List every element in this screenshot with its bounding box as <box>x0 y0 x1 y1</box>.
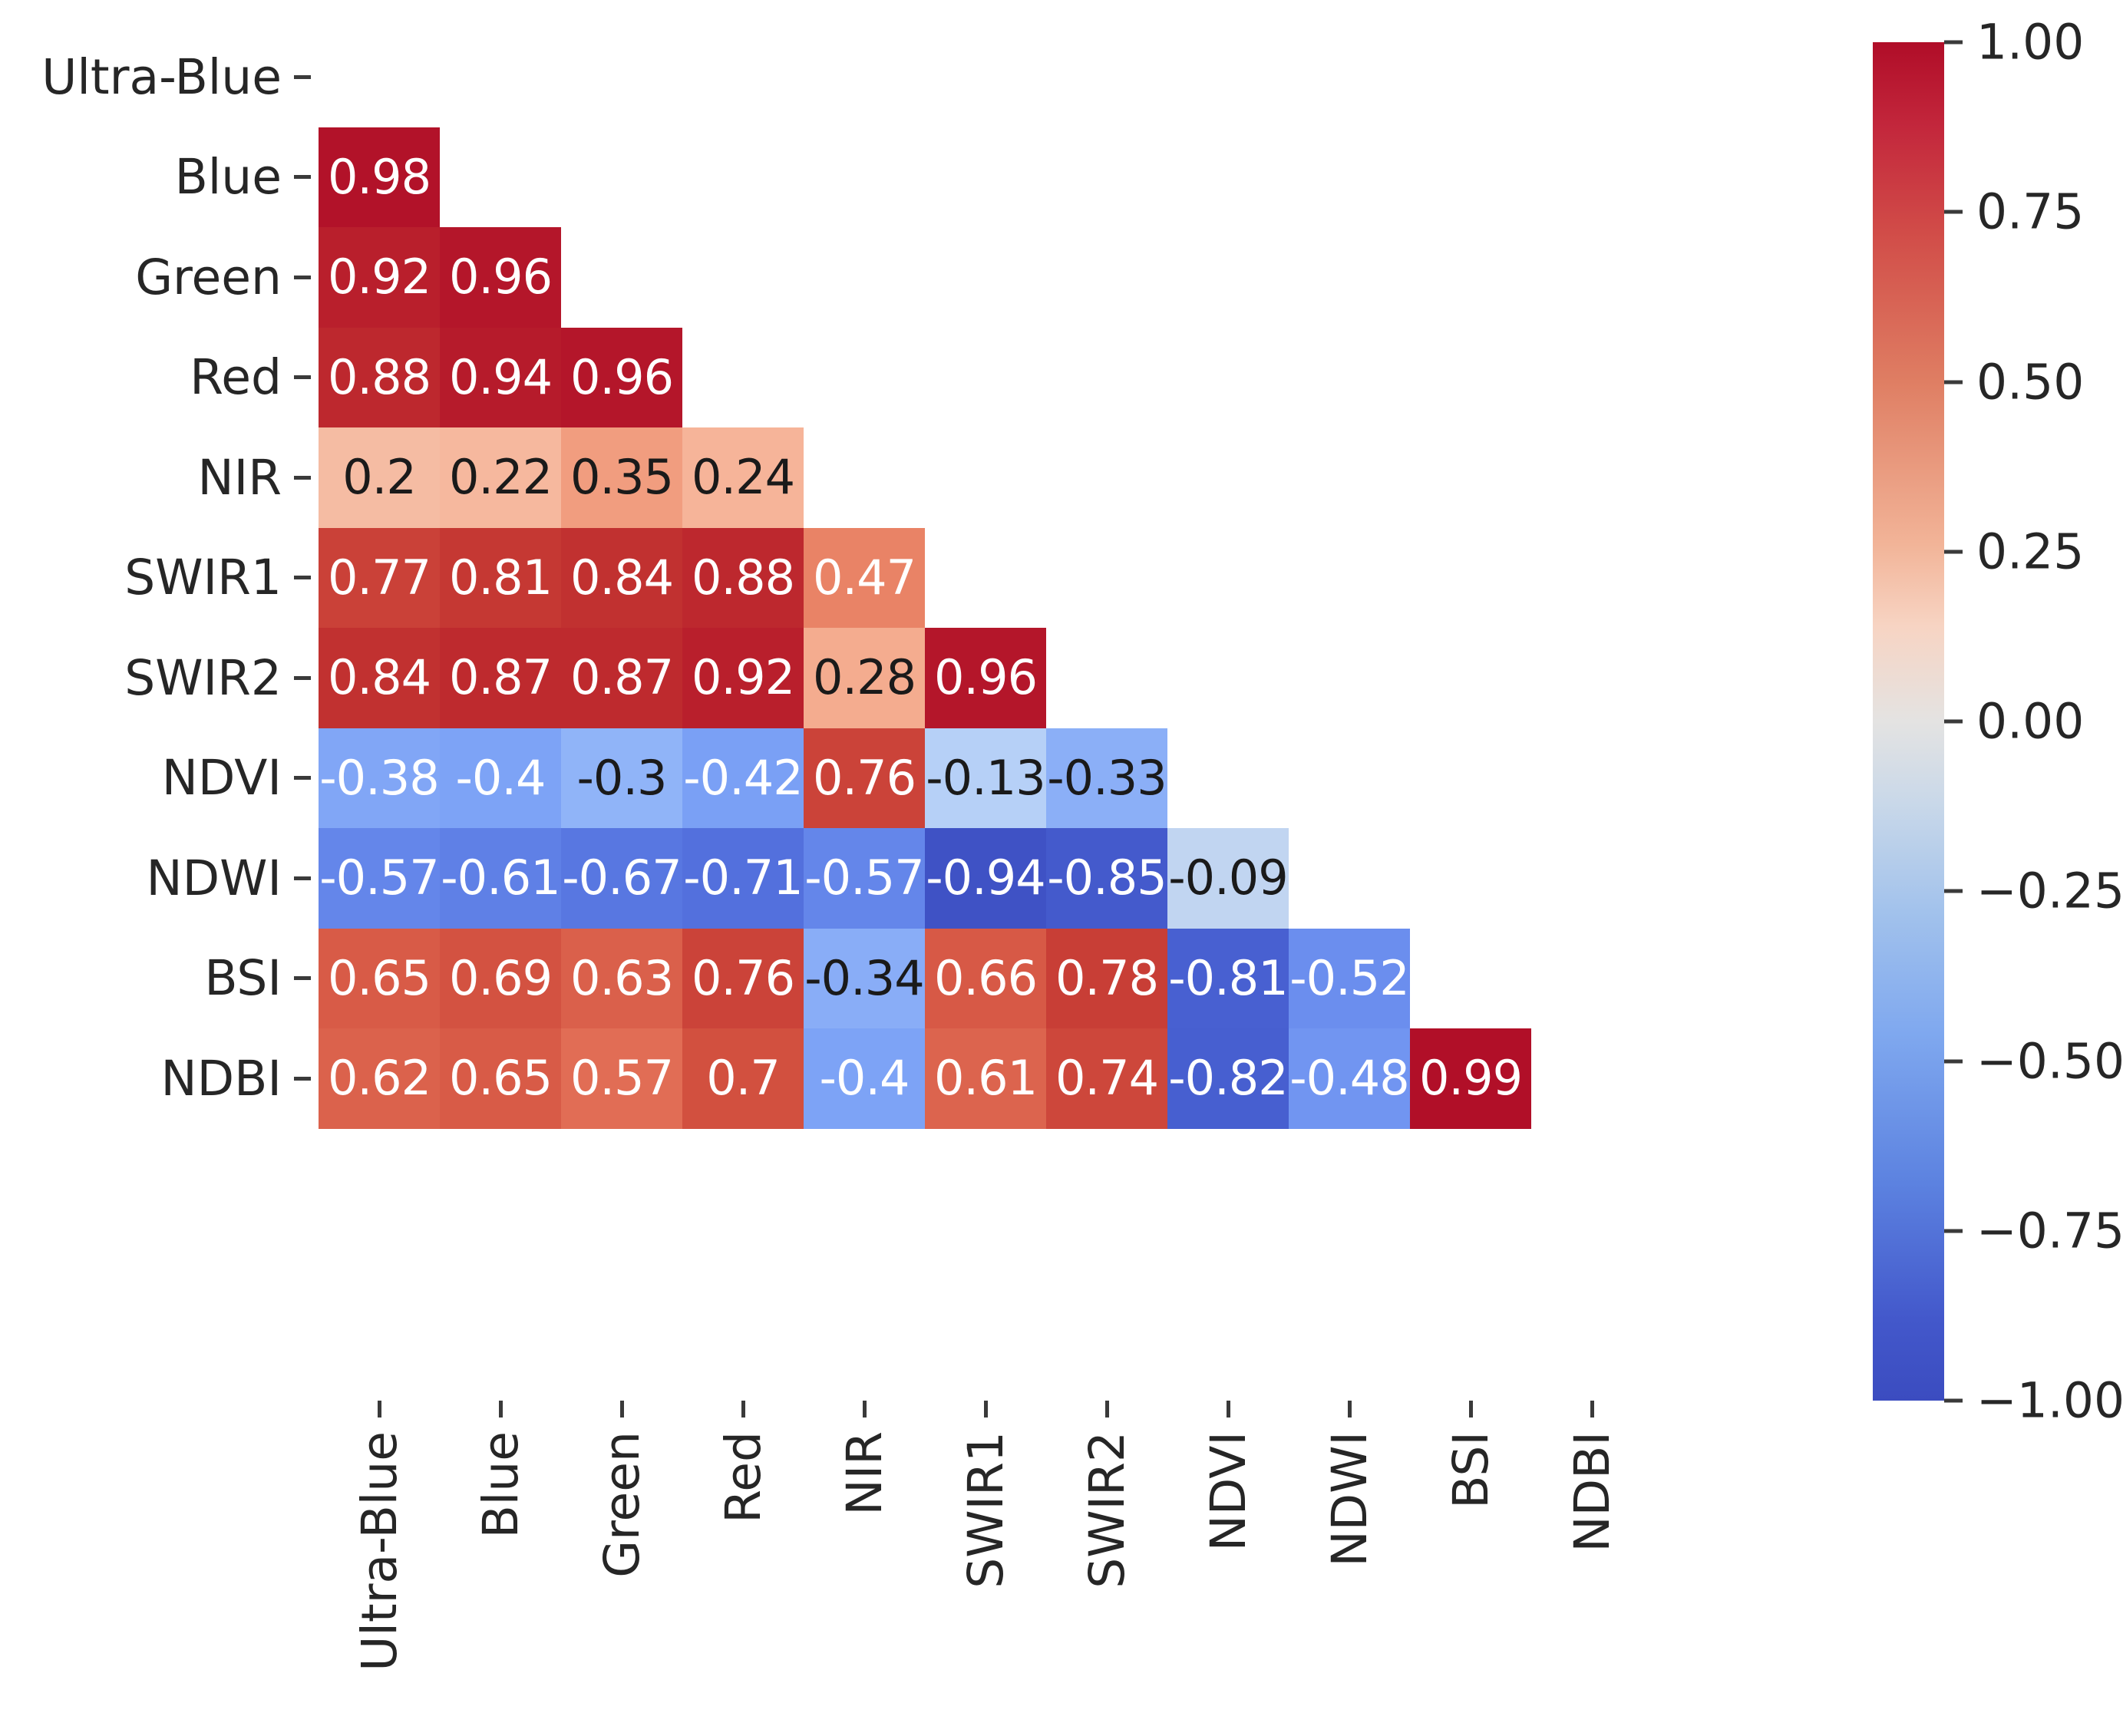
heatmap-cell <box>1531 328 1653 428</box>
heatmap-cell <box>804 427 925 528</box>
heatmap-cell <box>561 27 682 127</box>
heatmap-cell[interactable]: 0.87 <box>561 628 682 728</box>
heatmap-cell <box>1410 227 1531 328</box>
y-axis-tick: Ultra-Blue <box>0 27 319 127</box>
y-axis-tick-mark <box>294 75 311 79</box>
heatmap-cell[interactable]: -0.94 <box>925 828 1046 929</box>
x-axis-tick-label: Blue <box>473 1431 529 1538</box>
x-axis-tick-label: NIR <box>837 1431 893 1515</box>
heatmap-cell <box>1167 328 1289 428</box>
heatmap-cell[interactable]: -0.42 <box>682 728 804 829</box>
y-axis-tick-mark <box>294 375 311 379</box>
x-axis-tick: Green <box>561 1401 682 1578</box>
heatmap-cell <box>1167 728 1289 829</box>
heatmap-cell[interactable]: -0.67 <box>561 828 682 929</box>
heatmap-row: -0.57-0.61-0.67-0.71-0.57-0.94-0.85-0.09 <box>319 828 1654 929</box>
heatmap-row: 0.840.870.870.920.280.96 <box>319 628 1654 728</box>
colorbar-tick: −0.75 <box>1944 1203 2123 1259</box>
colorbar-tick: −0.50 <box>1944 1033 2123 1089</box>
heatmap-cell <box>1410 828 1531 929</box>
colorbar-tick-label: −0.75 <box>1976 1203 2123 1259</box>
colorbar-tick-mark <box>1944 720 1963 724</box>
heatmap-cell[interactable]: 0.96 <box>561 328 682 428</box>
colorbar-tick-label: 0.50 <box>1976 354 2084 410</box>
heatmap-cell <box>1531 27 1653 127</box>
heatmap-cell[interactable]: -0.34 <box>804 929 925 1029</box>
colorbar-tick-label: 0.00 <box>1976 694 2084 750</box>
x-axis-tick-mark <box>741 1401 745 1418</box>
heatmap-cell[interactable]: -0.71 <box>682 828 804 929</box>
heatmap-cell <box>1410 728 1531 829</box>
heatmap-cell[interactable]: 0.35 <box>561 427 682 528</box>
heatmap-cell[interactable]: 0.94 <box>440 328 561 428</box>
x-axis-tick: NDWI <box>1289 1401 1410 1567</box>
heatmap-cell[interactable]: -0.81 <box>1167 929 1289 1029</box>
y-axis-tick-label: Green <box>135 249 282 305</box>
colorbar-tick-mark <box>1944 1399 1963 1403</box>
colorbar-tick-label: 1.00 <box>1976 15 2084 71</box>
heatmap-cell <box>1167 27 1289 127</box>
x-axis-tick-label: Ultra-Blue <box>352 1431 408 1672</box>
heatmap-cell <box>1289 528 1410 629</box>
heatmap-cell <box>682 127 804 228</box>
x-axis-tick-mark <box>499 1401 503 1418</box>
colorbar-tick-label: −0.25 <box>1976 863 2123 919</box>
x-axis-tick-mark <box>620 1401 624 1418</box>
colorbar-tick-label: 0.75 <box>1976 184 2084 240</box>
heatmap-cell[interactable]: 0.92 <box>319 227 440 328</box>
heatmap-cell[interactable]: 0.66 <box>925 929 1046 1029</box>
y-axis-tick-mark <box>294 976 311 980</box>
heatmap-cell <box>1167 528 1289 629</box>
heatmap-cell[interactable]: 0.87 <box>440 628 561 728</box>
x-axis-tick-mark <box>1590 1401 1594 1418</box>
colorbar-tick-mark <box>1944 889 1963 893</box>
heatmap-cell <box>1531 227 1653 328</box>
heatmap-cell <box>1046 328 1167 428</box>
heatmap-cell[interactable]: 0.76 <box>682 929 804 1029</box>
heatmap-cell[interactable]: -0.57 <box>804 828 925 929</box>
x-axis-tick: SWIR2 <box>1046 1401 1167 1589</box>
colorbar-tick: 0.75 <box>1944 184 2084 240</box>
x-axis-tick: Red <box>682 1401 804 1523</box>
heatmap-cell <box>1531 728 1653 829</box>
heatmap-cell <box>804 127 925 228</box>
x-axis-tick-label: NDWI <box>1322 1431 1378 1567</box>
heatmap-cell <box>1410 427 1531 528</box>
heatmap-cell <box>1410 929 1531 1029</box>
y-axis-tick-mark <box>294 276 311 279</box>
colorbar-tick-mark <box>1944 380 1963 384</box>
heatmap-cell[interactable]: -0.3 <box>561 728 682 829</box>
heatmap-cell[interactable]: 0.28 <box>804 628 925 728</box>
heatmap-cell <box>1410 127 1531 228</box>
heatmap-cell <box>1046 127 1167 228</box>
heatmap-cell[interactable]: -0.52 <box>1289 929 1410 1029</box>
heatmap-cell <box>1410 528 1531 629</box>
colorbar-tick-label: −0.50 <box>1976 1033 2123 1089</box>
heatmap-cell <box>804 328 925 428</box>
heatmap-cell <box>925 528 1046 629</box>
heatmap-row: -0.38-0.4-0.3-0.420.76-0.13-0.33 <box>319 728 1654 829</box>
colorbar-tick-mark <box>1944 1229 1963 1233</box>
heatmap-cell[interactable]: 0.77 <box>319 528 440 629</box>
heatmap-row: 0.20.220.350.24 <box>319 427 1654 528</box>
heatmap-cell <box>1289 828 1410 929</box>
heatmap-cell <box>1167 628 1289 728</box>
heatmap-cell <box>1531 929 1653 1029</box>
heatmap-cell[interactable]: -0.4 <box>440 728 561 829</box>
colorbar-tick-label: 0.25 <box>1976 523 2084 579</box>
heatmap-cell[interactable]: -0.85 <box>1046 828 1167 929</box>
heatmap-cell <box>925 227 1046 328</box>
x-axis-tick-label: Red <box>715 1431 771 1523</box>
y-axis-tick: SWIR1 <box>0 528 319 629</box>
heatmap-cell <box>682 227 804 328</box>
heatmap-cell[interactable]: 0.7 <box>682 1028 804 1129</box>
colorbar-tick-mark <box>1944 41 1963 45</box>
x-axis-tick-mark <box>984 1401 988 1418</box>
y-axis-tick-labels: Ultra-BlueBlueGreenRedNIRSWIR1SWIR2NDVIN… <box>0 27 319 1401</box>
heatmap-cell[interactable]: -0.4 <box>804 1028 925 1129</box>
heatmap-cell <box>925 127 1046 228</box>
colorbar-tick: −1.00 <box>1944 1373 2123 1429</box>
colorbar-tick-mark <box>1944 210 1963 214</box>
heatmap-cell <box>1531 528 1653 629</box>
heatmap-row: 0.770.810.840.880.47 <box>319 528 1654 629</box>
heatmap-cell[interactable]: -0.57 <box>319 828 440 929</box>
x-axis-tick-labels: Ultra-BlueBlueGreenRedNIRSWIR1SWIR2NDVIN… <box>319 1401 1654 1736</box>
heatmap-cell <box>440 27 561 127</box>
heatmap-row: 0.880.940.96 <box>319 328 1654 428</box>
heatmap-cell <box>1046 628 1167 728</box>
heatmap-cell[interactable]: 0.81 <box>440 528 561 629</box>
heatmap-cell[interactable]: -0.82 <box>1167 1028 1289 1129</box>
heatmap-cell <box>682 27 804 127</box>
x-axis-tick-mark <box>863 1401 867 1418</box>
heatmap-cell <box>1410 27 1531 127</box>
heatmap-cell <box>1289 328 1410 428</box>
heatmap-cell[interactable]: 0.74 <box>1046 1028 1167 1129</box>
heatmap-row <box>319 27 1654 127</box>
heatmap-cell <box>561 227 682 328</box>
heatmap-cell <box>925 328 1046 428</box>
heatmap-cell <box>1167 227 1289 328</box>
x-axis-tick-label: SWIR2 <box>1079 1431 1135 1589</box>
colorbar-tick: −0.25 <box>1944 863 2123 919</box>
heatmap-cell[interactable]: 0.98 <box>319 127 440 228</box>
heatmap-cell[interactable]: 0.62 <box>319 1028 440 1129</box>
heatmap-cell[interactable]: -0.38 <box>319 728 440 829</box>
x-axis-tick: NIR <box>804 1401 925 1515</box>
heatmap-cell <box>1289 227 1410 328</box>
heatmap-cell <box>1046 27 1167 127</box>
heatmap-cell <box>1289 728 1410 829</box>
heatmap-cell[interactable]: 0.22 <box>440 427 561 528</box>
y-axis-tick: Green <box>0 227 319 328</box>
heatmap-cell[interactable]: 0.24 <box>682 427 804 528</box>
x-axis-tick-mark <box>378 1401 381 1418</box>
heatmap-row: 0.620.650.570.7-0.40.610.74-0.82-0.480.9… <box>319 1028 1654 1129</box>
y-axis-tick: NIR <box>0 427 319 528</box>
y-axis-tick-mark <box>294 776 311 780</box>
heatmap-row: 0.920.96 <box>319 227 1654 328</box>
heatmap-cell[interactable]: 0.88 <box>319 328 440 428</box>
y-axis-tick: NDVI <box>0 728 319 829</box>
heatmap-cell[interactable]: 0.65 <box>440 1028 561 1129</box>
heatmap-cell <box>1410 328 1531 428</box>
heatmap-cell[interactable]: 0.92 <box>682 628 804 728</box>
x-axis-tick-label: SWIR1 <box>958 1431 1014 1589</box>
heatmap-row: 0.98 <box>319 127 1654 228</box>
heatmap-cell[interactable]: 0.61 <box>925 1028 1046 1129</box>
heatmap-cell <box>925 27 1046 127</box>
heatmap-cell[interactable]: 0.99 <box>1410 1028 1531 1129</box>
heatmap-cell <box>1046 227 1167 328</box>
heatmap-cell <box>804 227 925 328</box>
heatmap-cell[interactable]: -0.13 <box>925 728 1046 829</box>
heatmap-cell[interactable]: 0.69 <box>440 929 561 1029</box>
heatmap-cell <box>1289 427 1410 528</box>
x-axis-tick: BSI <box>1410 1401 1531 1509</box>
colorbar-gradient <box>1873 42 1944 1401</box>
y-axis-tick-label: SWIR1 <box>124 550 282 606</box>
x-axis-tick-label: BSI <box>1443 1431 1499 1509</box>
heatmap-cell <box>804 27 925 127</box>
colorbar[interactable]: 1.000.750.500.250.00−0.25−0.50−0.75−1.00 <box>1873 42 2103 1401</box>
y-axis-tick: NDBI <box>0 1028 319 1129</box>
y-axis-tick-mark <box>294 476 311 480</box>
heatmap-row: 0.650.690.630.76-0.340.660.78-0.81-0.52 <box>319 929 1654 1029</box>
y-axis-tick-label: Ultra-Blue <box>41 49 282 105</box>
heatmap-grid: 0.980.920.960.880.940.960.20.220.350.240… <box>319 27 1654 1401</box>
colorbar-tick-label: −1.00 <box>1976 1373 2123 1429</box>
heatmap-cell <box>682 328 804 428</box>
y-axis-tick-label: NDVI <box>162 750 282 806</box>
colorbar-tick: 0.25 <box>1944 523 2084 579</box>
y-axis-tick: Red <box>0 328 319 428</box>
heatmap-cell[interactable]: 0.76 <box>804 728 925 829</box>
y-axis-tick: BSI <box>0 929 319 1029</box>
y-axis-tick-label: Red <box>190 349 282 405</box>
heatmap-cell[interactable]: 0.96 <box>440 227 561 328</box>
heatmap-cell <box>1289 628 1410 728</box>
heatmap-cell <box>1289 27 1410 127</box>
heatmap-cell <box>440 127 561 228</box>
y-axis-tick: SWIR2 <box>0 628 319 728</box>
y-axis-tick-label: NDBI <box>161 1051 282 1107</box>
heatmap-cell[interactable]: -0.48 <box>1289 1028 1410 1129</box>
x-axis-tick-mark <box>1348 1401 1352 1418</box>
x-axis-tick: NDVI <box>1167 1401 1289 1551</box>
heatmap-cell[interactable]: 0.88 <box>682 528 804 629</box>
y-axis-tick-mark <box>294 676 311 680</box>
x-axis-tick: Blue <box>440 1401 561 1538</box>
colorbar-tick-mark <box>1944 550 1963 553</box>
heatmap-cell <box>1289 127 1410 228</box>
y-axis-tick-label: SWIR2 <box>124 650 282 706</box>
heatmap-cell[interactable]: 0.47 <box>804 528 925 629</box>
heatmap-cell[interactable]: 0.57 <box>561 1028 682 1129</box>
x-axis-tick-label: NDVI <box>1200 1431 1256 1551</box>
heatmap-cell <box>1167 427 1289 528</box>
y-axis-tick-label: BSI <box>204 950 282 1006</box>
heatmap-cell <box>925 427 1046 528</box>
x-axis-tick: SWIR1 <box>925 1401 1046 1589</box>
x-axis-tick-mark <box>1227 1401 1230 1418</box>
y-axis-tick: Blue <box>0 127 319 228</box>
y-axis-tick-mark <box>294 576 311 579</box>
colorbar-tick: 1.00 <box>1944 15 2084 71</box>
heatmap-cell <box>319 27 440 127</box>
heatmap-cell[interactable]: -0.09 <box>1167 828 1289 929</box>
heatmap-cell <box>1531 828 1653 929</box>
heatmap-cell <box>1531 427 1653 528</box>
heatmap-cell <box>1046 427 1167 528</box>
heatmap-cell <box>1531 1028 1653 1129</box>
y-axis-tick-label: Blue <box>175 149 282 205</box>
heatmap-cell <box>1531 628 1653 728</box>
heatmap-cell[interactable]: 0.84 <box>561 528 682 629</box>
heatmap-cell[interactable]: 0.2 <box>319 427 440 528</box>
heatmap-cell[interactable]: 0.84 <box>319 628 440 728</box>
y-axis-tick-mark <box>294 175 311 179</box>
y-axis-tick-label: NDWI <box>146 850 282 906</box>
x-axis-tick-mark <box>1469 1401 1473 1418</box>
colorbar-tick-mark <box>1944 1059 1963 1063</box>
heatmap-cell[interactable]: 0.65 <box>319 929 440 1029</box>
heatmap-cell <box>1167 127 1289 228</box>
y-axis-tick-mark <box>294 1077 311 1081</box>
heatmap-cell[interactable]: -0.33 <box>1046 728 1167 829</box>
y-axis-tick-label: NIR <box>198 450 282 506</box>
heatmap-cell[interactable]: -0.61 <box>440 828 561 929</box>
heatmap-cell[interactable]: 0.78 <box>1046 929 1167 1029</box>
correlation-heatmap-figure: Ultra-BlueBlueGreenRedNIRSWIR1SWIR2NDVIN… <box>0 0 2123 1736</box>
heatmap-cell[interactable]: 0.63 <box>561 929 682 1029</box>
x-axis-tick: Ultra-Blue <box>319 1401 440 1672</box>
x-axis-tick-label: NDBI <box>1564 1431 1620 1552</box>
y-axis-tick-mark <box>294 876 311 880</box>
heatmap-cell <box>1410 628 1531 728</box>
x-axis-tick: NDBI <box>1531 1401 1653 1552</box>
x-axis-tick-label: Green <box>594 1431 650 1578</box>
x-axis-tick-mark <box>1105 1401 1109 1418</box>
heatmap-cell[interactable]: 0.96 <box>925 628 1046 728</box>
heatmap-cell <box>561 127 682 228</box>
colorbar-tick: 0.50 <box>1944 354 2084 410</box>
y-axis-tick: NDWI <box>0 828 319 929</box>
colorbar-tick: 0.00 <box>1944 694 2084 750</box>
heatmap-cell <box>1531 127 1653 228</box>
heatmap-cell <box>1046 528 1167 629</box>
